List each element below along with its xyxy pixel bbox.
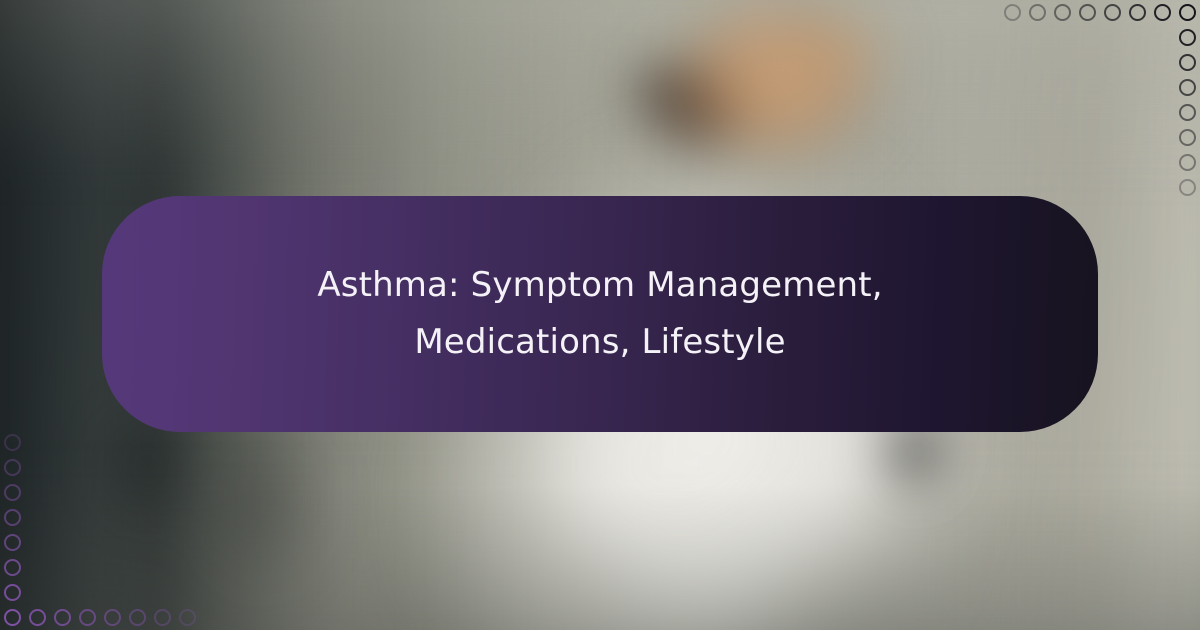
dot-h-1 <box>29 609 46 626</box>
dot-grid-bottom-left <box>0 414 216 630</box>
dot-h-3 <box>79 609 96 626</box>
dot-v-3 <box>4 534 21 551</box>
dot-h-2 <box>54 609 71 626</box>
title-card: Asthma: Symptom Management, Medications,… <box>102 196 1098 432</box>
dot-h-6 <box>1029 4 1046 21</box>
dot-h-3 <box>1104 4 1121 21</box>
dot-h-5 <box>129 609 146 626</box>
dot-v-2 <box>1179 54 1196 71</box>
dot-v-5 <box>4 484 21 501</box>
dot-h-5 <box>1054 4 1071 21</box>
page-title-line-2: Medications, Lifestyle <box>414 322 785 362</box>
dot-v-6 <box>4 459 21 476</box>
dot-h-4 <box>1079 4 1096 21</box>
dot-h-7 <box>1004 4 1021 21</box>
dot-h-6 <box>154 609 171 626</box>
dot-h-0 <box>1179 4 1196 21</box>
dot-v-1 <box>1179 29 1196 46</box>
dot-v-2 <box>4 559 21 576</box>
banner-canvas: Asthma: Symptom Management, Medications,… <box>0 0 1200 630</box>
dot-v-6 <box>1179 154 1196 171</box>
dot-h-2 <box>1129 4 1146 21</box>
dot-h-1 <box>1154 4 1171 21</box>
dot-v-7 <box>1179 179 1196 196</box>
dot-v-5 <box>1179 129 1196 146</box>
page-title: Asthma: Symptom Management, Medications,… <box>280 257 920 371</box>
dot-h-4 <box>104 609 121 626</box>
dot-h-0 <box>4 609 21 626</box>
dot-v-4 <box>4 509 21 526</box>
dot-v-4 <box>1179 104 1196 121</box>
dot-v-1 <box>4 584 21 601</box>
dot-v-3 <box>1179 79 1196 96</box>
dot-grid-top-right <box>984 0 1200 216</box>
dot-v-7 <box>4 434 21 451</box>
dot-h-7 <box>179 609 196 626</box>
page-title-line-1: Asthma: Symptom Management, <box>317 265 882 305</box>
